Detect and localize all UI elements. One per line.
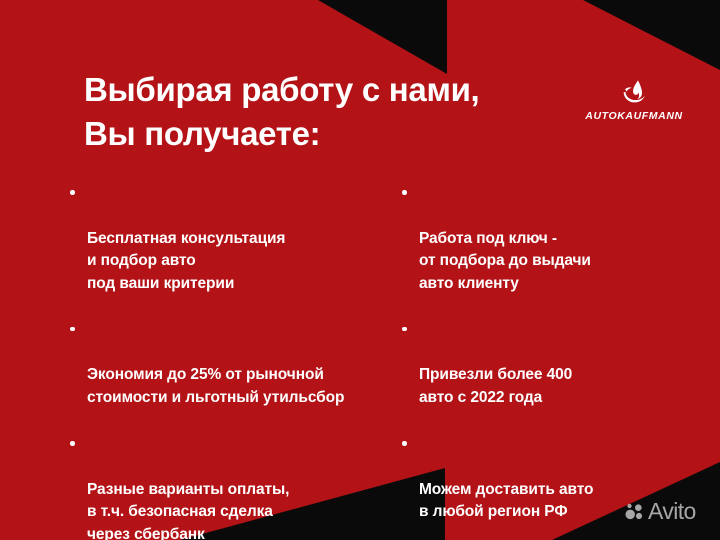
benefit-text: Разные варианты оплаты, в т.ч. безопасна… — [87, 481, 289, 540]
benefit-item: Экономия до 25% от рыночной стоимости и … — [70, 319, 400, 410]
autokaufmann-flame-mark — [619, 78, 649, 108]
avito-watermark: Avito — [625, 500, 696, 523]
avito-wordmark: Avito — [648, 500, 696, 523]
benefit-text: Работа под ключ - от подбора до выдачи а… — [419, 230, 591, 293]
benefit-text: Экономия до 25% от рыночной стоимости и … — [87, 366, 344, 406]
bullet-dot-icon — [70, 441, 75, 446]
bullet-dot-icon — [70, 190, 75, 195]
benefits-right-column: Работа под ключ - от подбора до выдачи а… — [402, 182, 702, 524]
benefit-item: Бесплатная консультация и подбор авто по… — [70, 182, 400, 296]
promo-poster: Выбирая работу с нами, Вы получаете: AUT… — [0, 0, 720, 540]
bullet-dot-icon — [402, 441, 407, 446]
logo-wordmark: AUTOKAUFMANN — [582, 111, 686, 122]
bullet-dot-icon — [402, 190, 407, 195]
benefit-text: Можем доставить авто в любой регион РФ — [419, 481, 593, 521]
benefits-left-column: Бесплатная консультация и подбор авто по… — [70, 182, 400, 540]
avito-dots-icon — [625, 502, 644, 521]
benefit-item: Привезли более 400 авто с 2022 года — [402, 319, 702, 410]
brand-logo: AUTOKAUFMANN — [582, 78, 686, 122]
benefit-text: Бесплатная консультация и подбор авто по… — [87, 230, 285, 293]
benefit-text: Привезли более 400 авто с 2022 года — [419, 366, 572, 406]
bullet-dot-icon — [402, 327, 407, 332]
bullet-dot-icon — [70, 327, 75, 332]
page-title: Выбирая работу с нами, Вы получаете: — [84, 68, 554, 156]
benefit-item: Разные варианты оплаты, в т.ч. безопасна… — [70, 433, 400, 540]
benefit-item: Работа под ключ - от подбора до выдачи а… — [402, 182, 702, 296]
